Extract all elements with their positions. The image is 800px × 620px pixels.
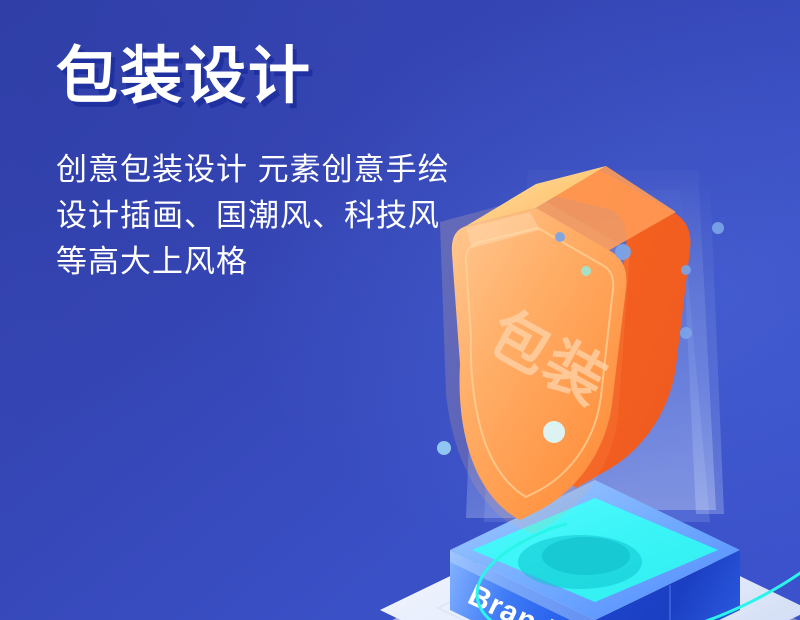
particle-dot (681, 265, 691, 275)
particle-dot (712, 222, 724, 234)
particle-dot (615, 244, 631, 260)
banner-text-block: 包装设计 创意包装设计 元素创意手绘 设计插画、国潮风、科技风 等高大上风格 (56, 44, 526, 285)
particle-dot (555, 232, 565, 242)
page-title: 包装设计 (56, 44, 526, 111)
subtitle-line-3: 等高大上风格 (56, 239, 526, 285)
particle-dot (581, 266, 591, 276)
particle-dot (543, 421, 565, 443)
packaging-design-banner: Brand 包装 (0, 0, 800, 620)
subtitle-line-2: 设计插画、国潮风、科技风 (56, 193, 526, 239)
banner-subtitle: 创意包装设计 元素创意手绘 设计插画、国潮风、科技风 等高大上风格 (56, 147, 526, 285)
particle-dot (680, 327, 692, 339)
particle-dot (437, 441, 451, 455)
subtitle-line-1: 创意包装设计 元素创意手绘 (56, 147, 526, 193)
